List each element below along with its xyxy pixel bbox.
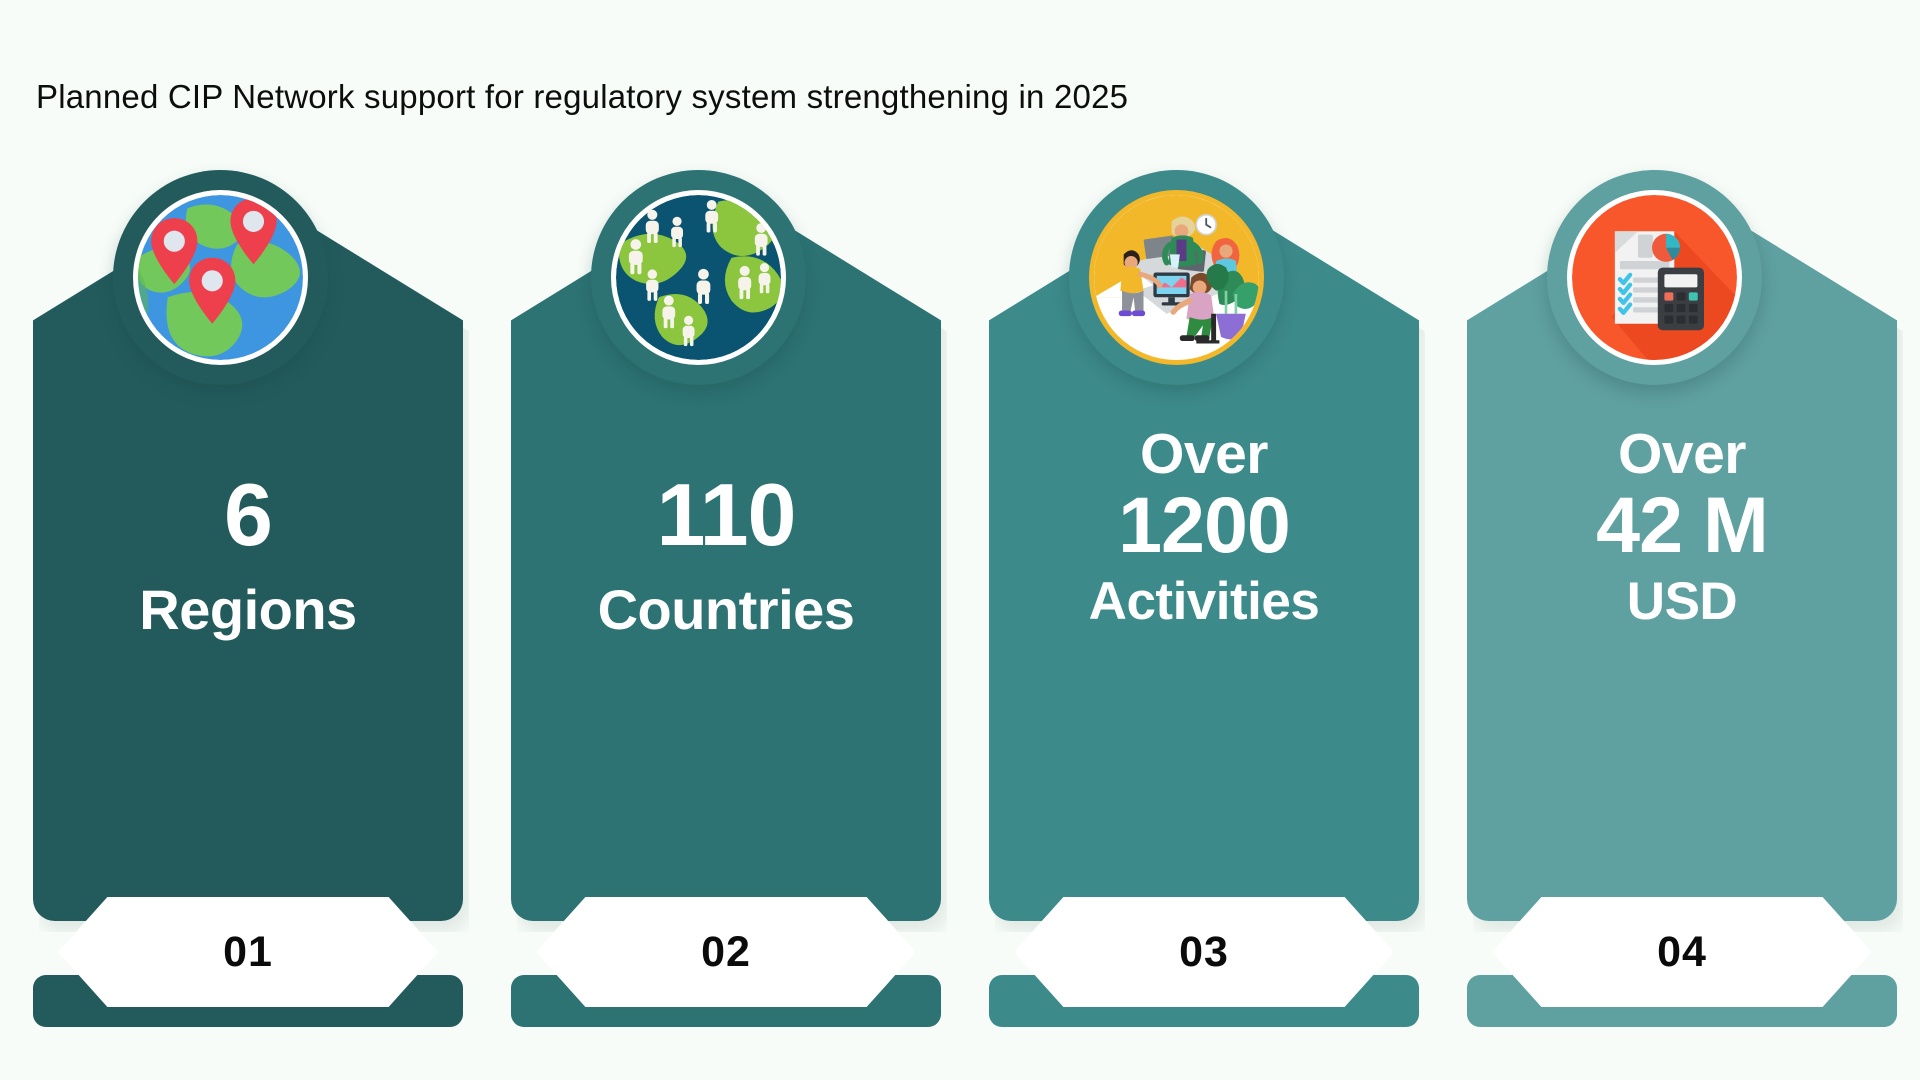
stat-card-02[interactable]: 110 Countries 02: [511, 170, 941, 1050]
globe-with-people-icon: [611, 190, 786, 365]
card-icon-medallion: [591, 170, 806, 385]
card-number: 01: [223, 928, 273, 977]
report-calculator-icon: [1567, 190, 1742, 365]
card-number: 04: [1657, 928, 1707, 977]
card-number-badge: 04: [1492, 897, 1872, 1007]
card-number-badge: 01: [58, 897, 438, 1007]
card-number: 02: [701, 928, 751, 977]
card-number: 03: [1179, 928, 1229, 977]
stat-card-03[interactable]: Over 1200 Activities 03: [989, 170, 1419, 1050]
globe-with-map-pins-icon: [133, 190, 308, 365]
page-title: Planned CIP Network support for regulato…: [36, 78, 1128, 116]
stat-card-01[interactable]: 6 Regions 01: [33, 170, 463, 1050]
card-number-badge: 03: [1014, 897, 1394, 1007]
stats-card-deck: 6 Regions 01: [0, 170, 1920, 1070]
stat-card-04[interactable]: Over 42 M USD 04: [1467, 170, 1897, 1050]
card-icon-medallion: [113, 170, 328, 385]
card-icon-medallion: [1547, 170, 1762, 385]
card-icon-medallion: [1069, 170, 1284, 385]
card-number-badge: 02: [536, 897, 916, 1007]
office-teamwork-icon: [1089, 190, 1264, 365]
